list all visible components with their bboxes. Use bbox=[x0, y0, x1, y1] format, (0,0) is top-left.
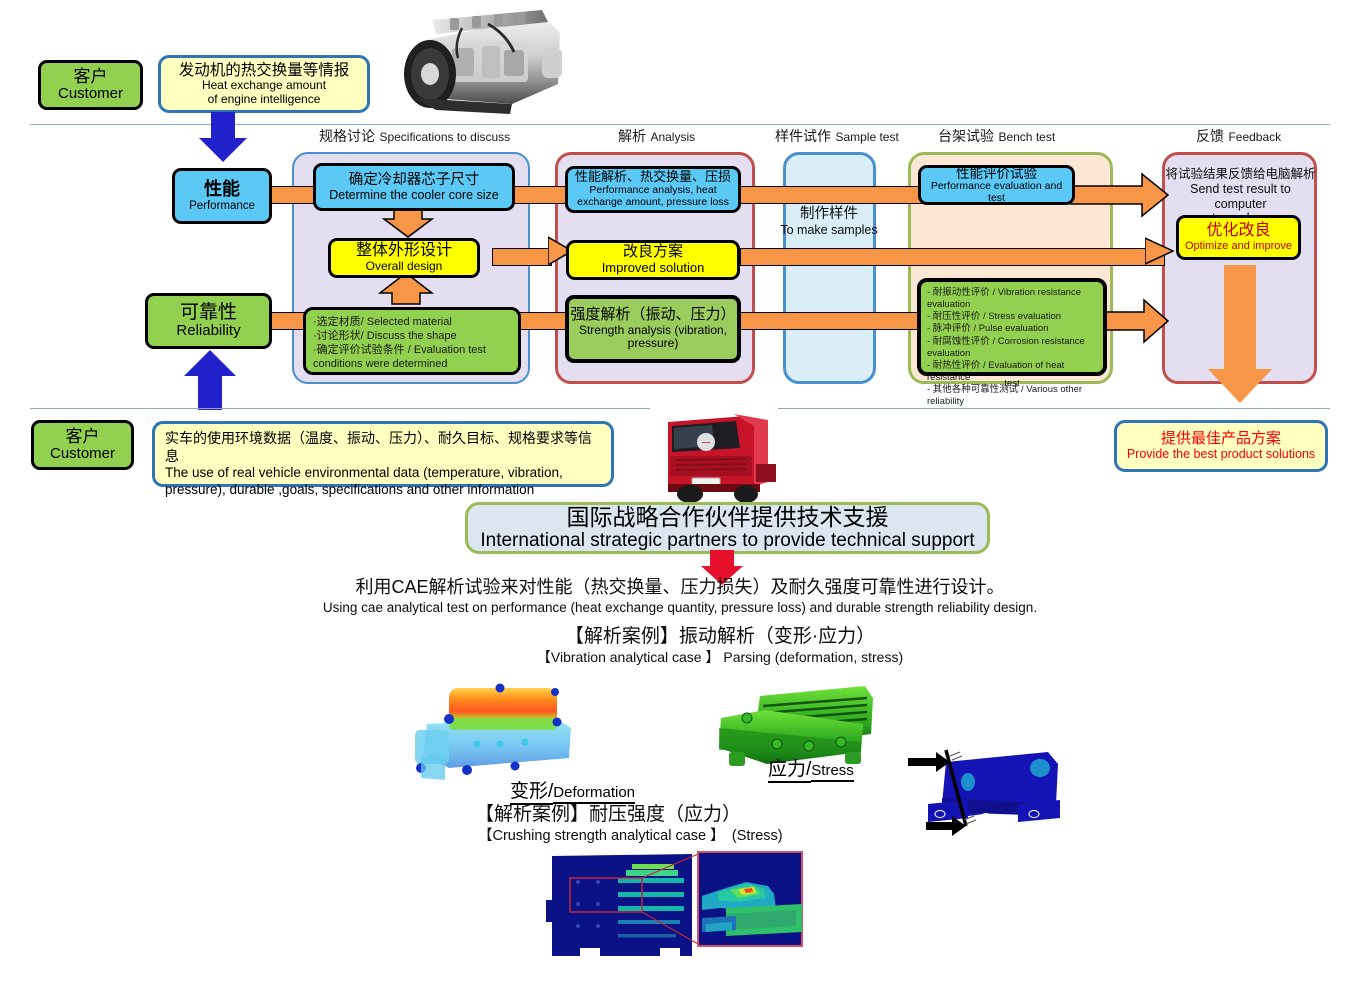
phase-label-sample-test: 样件试作 Sample test bbox=[775, 126, 899, 146]
connector-overall-to-improved bbox=[492, 248, 552, 266]
case-crushing-cn: 【解析案例】耐压强度（应力） bbox=[400, 803, 960, 827]
phase-en: Analysis bbox=[650, 130, 695, 144]
phase-cn: 解析 bbox=[618, 128, 646, 144]
customer-label-en-top: Customer bbox=[58, 86, 123, 103]
box-reliability-spec-items: ·选定材质/ Selected material ·讨论形状/ Discuss … bbox=[303, 307, 521, 375]
customer-box-bottom: 客户 Customer bbox=[31, 420, 134, 470]
best-solution-box: 提供最佳产品方案 Provide the best product soluti… bbox=[1114, 420, 1328, 472]
phase-en: Specifications to discuss bbox=[379, 130, 510, 144]
improved-cn: 改良方案 bbox=[623, 244, 683, 261]
phase-label-analysis: 解析 Analysis bbox=[618, 126, 695, 146]
box-overall-design: 整体外形设计 Overall design bbox=[328, 238, 480, 278]
bench-item-3: - 脉冲评价 / Pulse evaluation bbox=[927, 323, 1097, 335]
phase-label-specifications: 规格讨论 Specifications to discuss bbox=[319, 126, 510, 146]
phase-cn: 台架试验 bbox=[938, 128, 994, 144]
env-cn: 实车的使用环境数据（温度、振动、压力）、耐久目标、规格要求等信息 bbox=[165, 430, 601, 465]
best-solution-cn: 提供最佳产品方案 bbox=[1161, 431, 1281, 448]
reliability-cn: 可靠性 bbox=[180, 302, 237, 323]
performance-cn: 性能 bbox=[204, 179, 240, 199]
bench-item-4: - 耐腐蚀性评价 / Corrosion resistance bbox=[927, 336, 1097, 348]
spec-item-2: ·讨论形状/ Discuss the shape bbox=[313, 329, 511, 343]
bench-item-6-overflow: test bbox=[917, 378, 1107, 389]
stress-cn: 应力 bbox=[768, 759, 806, 783]
box-performance-evaluation: 性能评价试验 Performance evaluation and test bbox=[918, 165, 1075, 205]
deformation-cn: 变形 bbox=[510, 781, 548, 805]
phase-en: Bench test bbox=[998, 130, 1055, 144]
box-bench-reliability-items: - 耐振动性评价 / Vibration resistance evaluati… bbox=[917, 278, 1107, 376]
blue-down-arrow-customer-to-performance bbox=[197, 112, 249, 169]
customer-label-cn-bottom: 客户 bbox=[66, 427, 100, 446]
box-strength-analysis: 强度解析（振动、压力） Strength analysis (vibration… bbox=[565, 295, 741, 363]
sample-test-text: 制作样件 To make samples bbox=[776, 206, 882, 238]
customer-label-cn-top: 客户 bbox=[74, 67, 108, 86]
environment-data-box: 实车的使用环境数据（温度、振动、压力）、耐久目标、规格要求等信息 The use… bbox=[152, 421, 614, 487]
partner-cn: 国际战略合作伙伴提供技术支援 bbox=[567, 504, 889, 530]
strength-en1: Strength analysis (vibration, bbox=[579, 324, 727, 337]
deformation-en: Deformation bbox=[553, 784, 635, 804]
row-label-reliability: 可靠性 Reliability bbox=[145, 293, 272, 349]
feedback-en1: Send test result to computer bbox=[1163, 182, 1318, 212]
engine-info-cn: 发动机的热交换量等情报 bbox=[179, 62, 350, 79]
big-orange-down-arrow-feedback bbox=[1206, 265, 1274, 410]
partner-en: International strategic partners to prov… bbox=[480, 530, 974, 552]
env-en2: pressure), durable ,goals, specification… bbox=[165, 482, 601, 499]
box-performance-analysis: 性能解析、热交换量、压损 Performance analysis, heat … bbox=[565, 166, 741, 213]
ana-perf-en1: Performance analysis, heat bbox=[589, 185, 716, 197]
phase-en: Sample test bbox=[835, 130, 898, 144]
stress-en: Stress bbox=[811, 762, 854, 782]
truck-engine-photo bbox=[392, 2, 570, 120]
customer-box-top: 客户 Customer bbox=[38, 60, 143, 110]
reliability-en: Reliability bbox=[176, 323, 240, 340]
blue-up-arrow-customer-to-reliability bbox=[182, 350, 238, 417]
bench-eval-en: Performance evaluation and test bbox=[921, 181, 1072, 205]
bench-eval-cn: 性能评价试验 bbox=[956, 166, 1037, 181]
arrow-row1-to-feedback bbox=[1070, 170, 1170, 225]
engine-info-en1: Heat exchange amount bbox=[202, 79, 326, 92]
strength-en2: pressure) bbox=[628, 337, 679, 350]
phase-label-feedback: 反馈 Feedback bbox=[1196, 126, 1281, 146]
cooler-cn: 确定冷却器芯子尺寸 bbox=[349, 172, 480, 188]
case-vibration-en: 【Vibration analytical case 】 Parsing (de… bbox=[440, 649, 1000, 667]
sample-cn: 制作样件 bbox=[776, 206, 882, 223]
deformation-label: 变形/Deformation bbox=[510, 776, 635, 803]
svg-text:一: 一 bbox=[701, 438, 710, 448]
box-cooler-core-size: 确定冷却器芯子尺寸 Determine the cooler core size bbox=[313, 163, 515, 211]
strength-cn: 强度解析（振动、压力） bbox=[570, 307, 735, 324]
phase-cn: 反馈 bbox=[1196, 128, 1224, 144]
phase-label-bench-test: 台架试验 Bench test bbox=[938, 126, 1055, 146]
sample-en: To make samples bbox=[776, 223, 882, 238]
env-en1: The use of real vehicle environmental da… bbox=[165, 465, 601, 482]
cooler-en: Determine the cooler core size bbox=[329, 188, 499, 202]
case-crushing-en: 【Crushing strength analytical case 】 (St… bbox=[400, 827, 960, 845]
best-solution-en: Provide the best product solutions bbox=[1127, 447, 1315, 461]
red-faw-truck-photo: 一 bbox=[650, 404, 778, 504]
connector-strength-to-bench bbox=[738, 312, 923, 330]
ana-perf-cn: 性能解析、热交换量、压损 bbox=[575, 170, 731, 185]
bench-item-1b: evaluation bbox=[927, 299, 1097, 311]
feedback-cn: 将试验结果反馈给电脑解析 bbox=[1163, 167, 1318, 182]
cae-statement-cn: 利用CAE解析试验来对性能（热交换量、压力损失）及耐久强度可靠性进行设计。 bbox=[300, 576, 1060, 599]
performance-en: Performance bbox=[189, 200, 255, 213]
box-improved-solution: 改良方案 Improved solution bbox=[566, 240, 740, 280]
phase-cn: 规格讨论 bbox=[319, 128, 375, 144]
stress-label: 应力/Stress bbox=[768, 754, 854, 781]
spec-item-1: ·选定材质/ Selected material bbox=[313, 315, 511, 329]
bench-item-2: - 耐压性评价 / Stress evaluation bbox=[927, 311, 1097, 323]
phase-en: Feedback bbox=[1228, 130, 1281, 144]
partner-support-banner: 国际战略合作伙伴提供技术支援 International strategic p… bbox=[465, 502, 990, 554]
crushing-strength-contour-plot bbox=[540, 848, 808, 976]
connector-analysis-to-sample bbox=[738, 186, 923, 204]
cae-statement: 利用CAE解析试验来对性能（热交换量、压力损失）及耐久强度可靠性进行设计。 Us… bbox=[300, 576, 1060, 617]
bench-item-4b: evaluation bbox=[927, 348, 1097, 360]
connector-spec-to-strength bbox=[512, 312, 572, 330]
deformation-contour-plot bbox=[405, 672, 590, 784]
overall-en: Overall design bbox=[366, 260, 443, 273]
spec-item-3: ·确定评价试验条件 / Evaluation test bbox=[313, 343, 511, 357]
engine-info-en2: of engine intelligence bbox=[208, 93, 321, 106]
arrow-row3-to-feedback bbox=[1100, 296, 1170, 351]
spec-item-4: conditions were determined bbox=[313, 357, 511, 371]
case-vibration-title: 【解析案例】振动解析（变形·应力） 【Vibration analytical … bbox=[440, 625, 1000, 666]
customer-label-en-bottom: Customer bbox=[50, 446, 115, 463]
optimize-cn: 优化改良 bbox=[1206, 222, 1270, 240]
optimize-en: Optimize and improve bbox=[1185, 240, 1292, 252]
phase-cn: 样件试作 bbox=[775, 128, 831, 144]
overall-cn: 整体外形设计 bbox=[356, 242, 452, 260]
ana-perf-en2: exchange amount, pressure loss bbox=[577, 197, 729, 209]
case-crushing-title: 【解析案例】耐压强度（应力） 【Crushing strength analyt… bbox=[400, 803, 960, 845]
case-vibration-cn: 【解析案例】振动解析（变形·应力） bbox=[440, 625, 1000, 649]
improved-en: Improved solution bbox=[602, 261, 705, 276]
engine-info-box: 发动机的热交换量等情报 Heat exchange amount of engi… bbox=[158, 55, 370, 113]
cae-statement-en: Using cae analytical test on performance… bbox=[300, 599, 1060, 617]
bench-item-1: - 耐振动性评价 / Vibration resistance bbox=[927, 287, 1097, 299]
row-label-performance: 性能 Performance bbox=[172, 168, 272, 224]
box-optimize-improve: 优化改良 Optimize and improve bbox=[1176, 215, 1301, 260]
connector-improved-to-bench bbox=[740, 248, 1165, 266]
arrow-row2-to-feedback bbox=[1145, 232, 1175, 275]
